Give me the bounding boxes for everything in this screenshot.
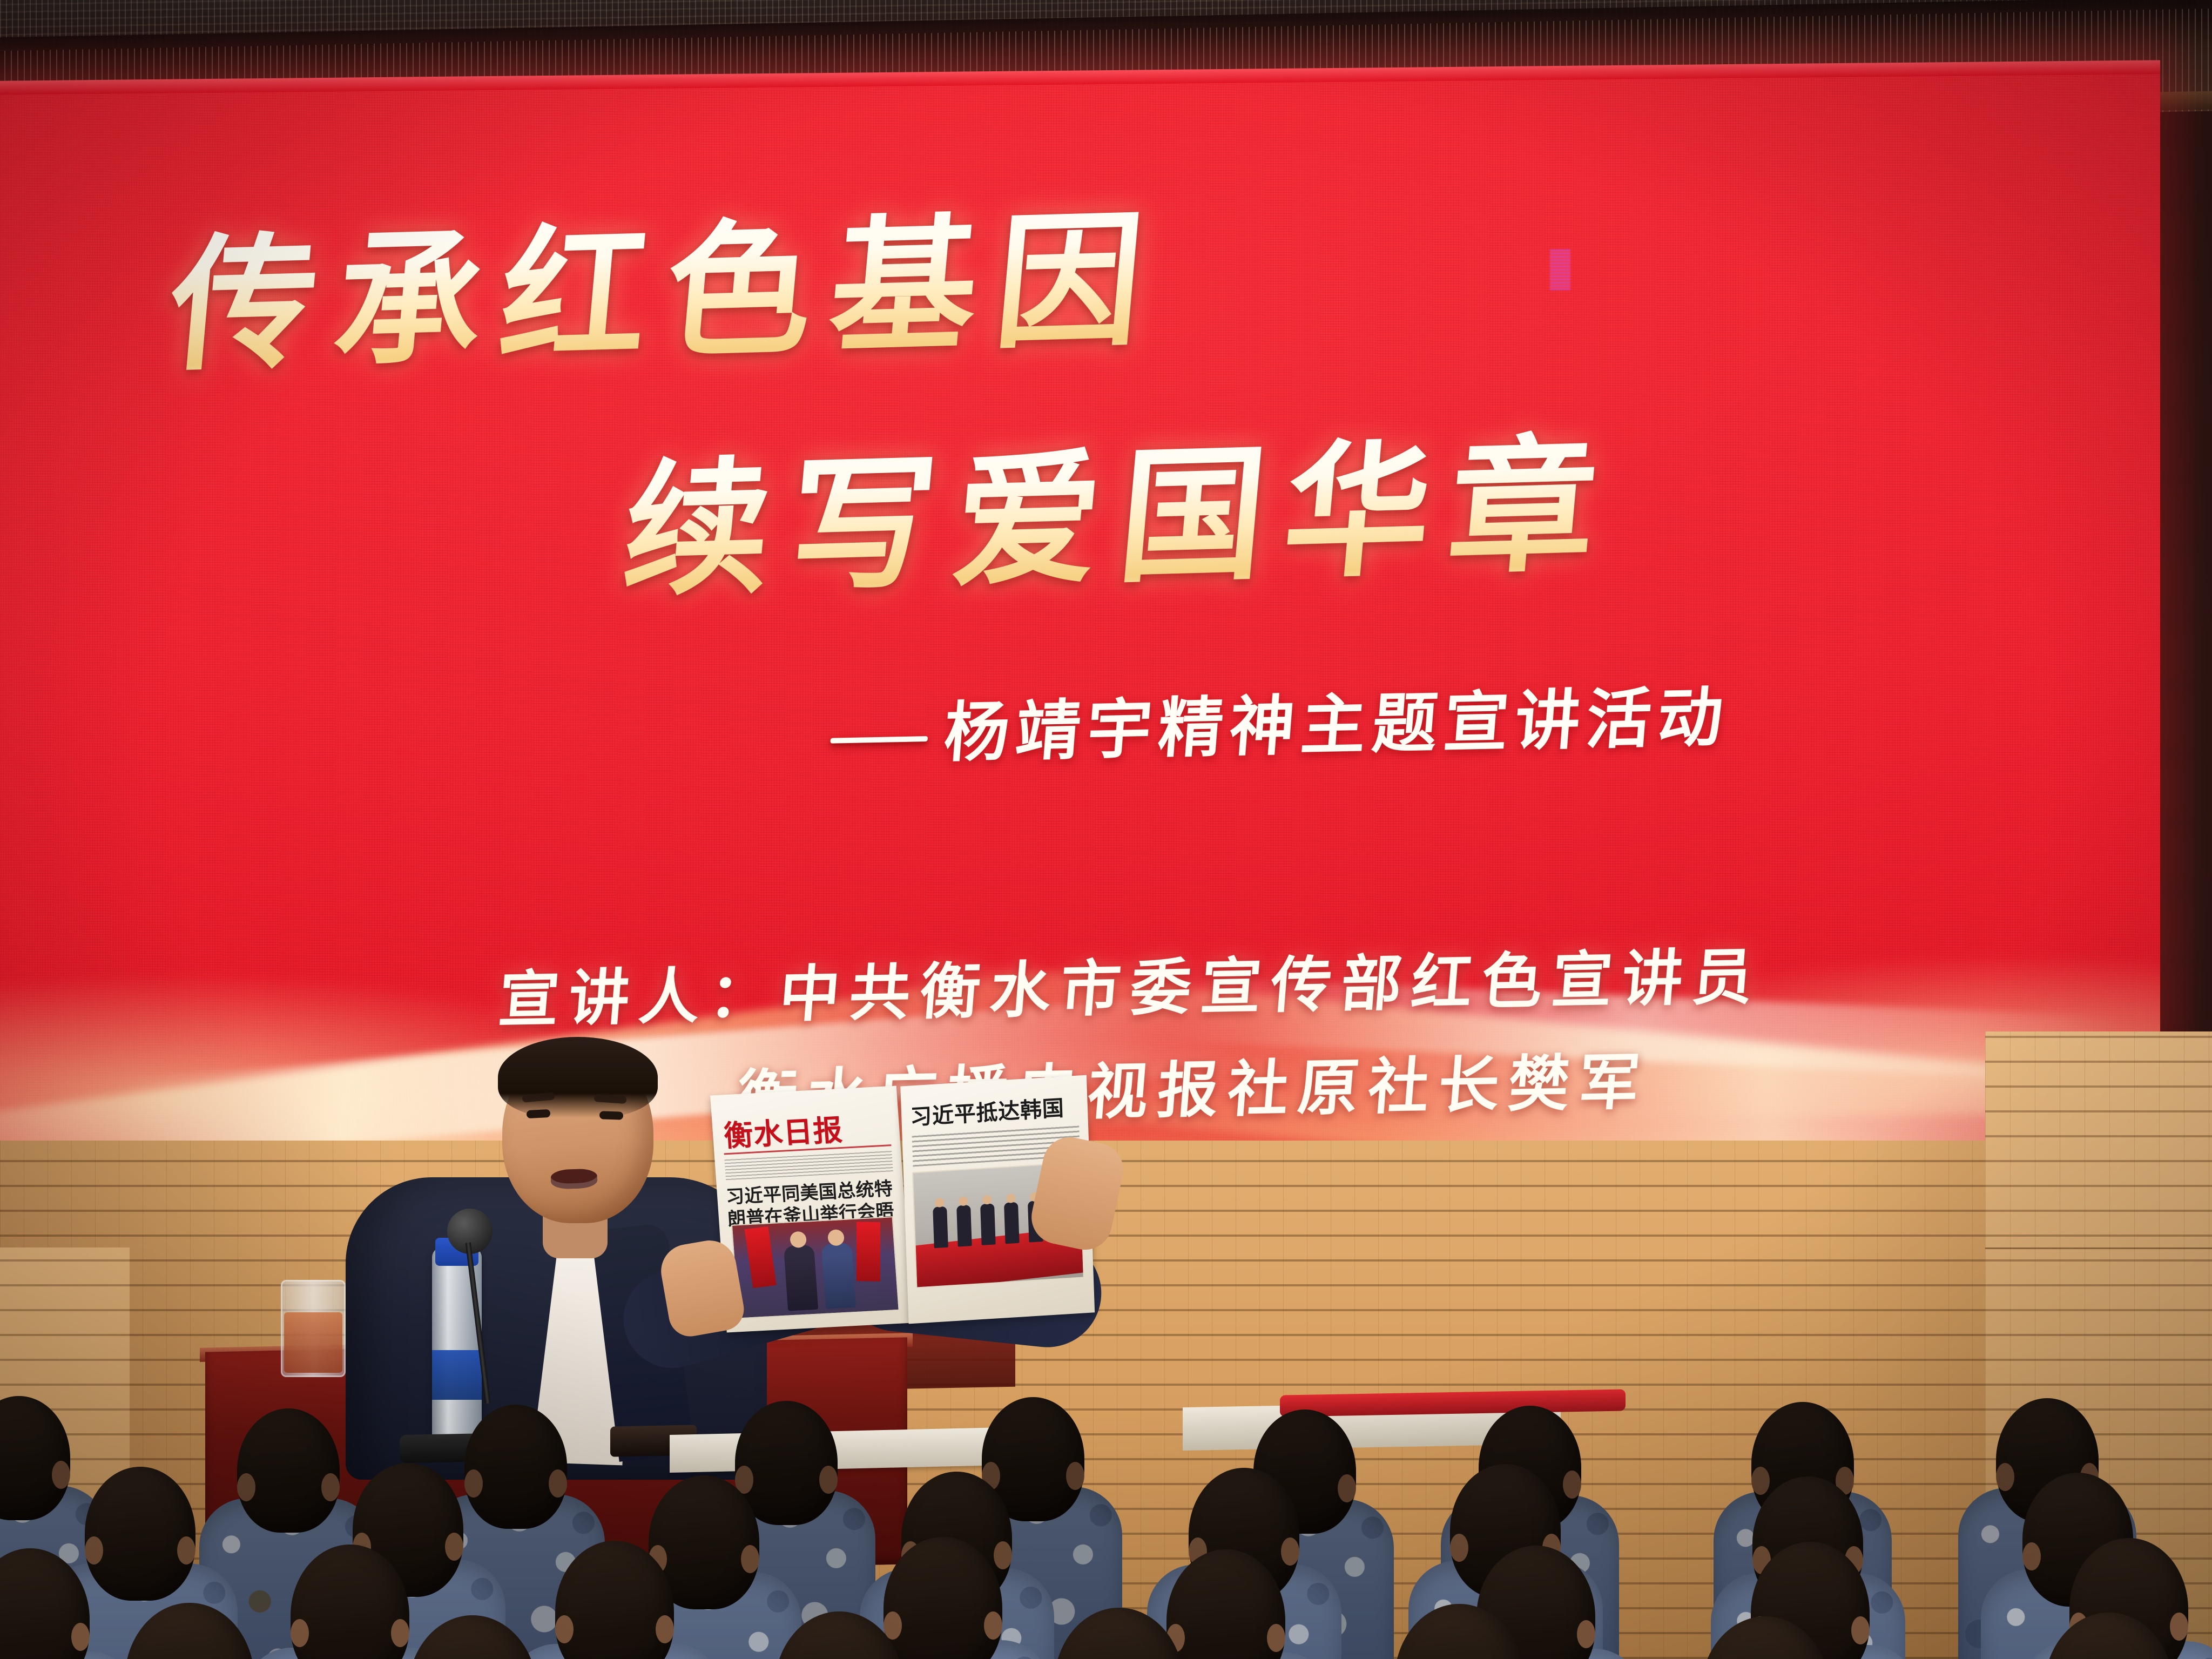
audience-member-ear bbox=[1851, 1616, 1870, 1644]
audience-member-ear bbox=[555, 1615, 574, 1643]
audience-member-ear bbox=[549, 1469, 567, 1498]
bottle-label bbox=[432, 1350, 482, 1400]
em-dash-icon bbox=[830, 736, 928, 744]
photo-figure-b bbox=[821, 1243, 856, 1309]
audience-member-ear bbox=[71, 1623, 90, 1651]
lecture-hall-scene: 传承红色基因 续写爱国华章 杨靖宇精神主题宣讲活动 宣讲人：中共衡水市委宣传部红… bbox=[0, 0, 2212, 1659]
banner-title-line-2: 续写爱国华章 bbox=[616, 386, 1625, 624]
audience-member-ear bbox=[1996, 1463, 2014, 1491]
photo-person bbox=[933, 1206, 948, 1249]
led-screen: 传承红色基因 续写爱国华章 杨靖宇精神主题宣讲活动 宣讲人：中共衡水市委宣传部红… bbox=[0, 60, 2160, 1226]
flag-icon-right bbox=[857, 1222, 880, 1282]
audience-member-ear bbox=[1281, 1537, 1299, 1566]
banner-title-line-1: 传承红色基因 bbox=[163, 161, 1171, 399]
newspaper-meta-bar bbox=[724, 1150, 893, 1180]
banner-credit-line-1: 宣讲人：中共衡水市委宣传部红色宣讲员 bbox=[496, 928, 1766, 1038]
audience-member-ear bbox=[391, 1619, 409, 1647]
audience-member-ear bbox=[177, 1536, 195, 1564]
audience-member-ear bbox=[1338, 1474, 1356, 1502]
speaker-eye-right bbox=[599, 1111, 623, 1120]
audience-member-ear bbox=[819, 1466, 838, 1494]
photo-person bbox=[1004, 1202, 1020, 1244]
audience-member-ear bbox=[1066, 1462, 1084, 1490]
audience-member-ear bbox=[741, 1545, 759, 1573]
photo-person bbox=[956, 1205, 972, 1247]
audience-member-head bbox=[85, 1467, 195, 1601]
flag-icon-left bbox=[745, 1226, 777, 1288]
audience-member-ear bbox=[1563, 1471, 1581, 1499]
audience-member-ear bbox=[984, 1611, 1002, 1640]
audience-member-ear bbox=[445, 1533, 463, 1561]
audience-member-head bbox=[237, 1408, 340, 1533]
wood-panel-seam bbox=[1985, 1247, 2212, 1249]
audience-member-ear bbox=[656, 1615, 674, 1643]
newspaper-photo-left bbox=[731, 1216, 900, 1319]
audience-member-ear bbox=[994, 1541, 1012, 1569]
audience-member-ear bbox=[321, 1473, 340, 1501]
audience-member-ear bbox=[2022, 1542, 2041, 1570]
stuck-led-pixel-block bbox=[1550, 249, 1570, 290]
audience-member-head bbox=[464, 1405, 567, 1529]
photo-figure-a bbox=[784, 1245, 818, 1311]
audience-member-ear bbox=[237, 1473, 255, 1501]
speaker-hair bbox=[498, 1037, 658, 1118]
audience-member-ear bbox=[85, 1536, 103, 1564]
newspaper-headline-right: 习近平抵达韩国 bbox=[909, 1090, 1079, 1131]
tea-liquid bbox=[284, 1312, 342, 1373]
speaker-eye-left bbox=[527, 1109, 551, 1118]
audience-member-ear bbox=[2170, 1613, 2188, 1641]
audience-member-ear bbox=[1450, 1534, 1468, 1562]
banner-text-group: 传承红色基因 续写爱国华章 杨靖宇精神主题宣讲活动 宣讲人：中共衡水市委宣传部红… bbox=[0, 60, 2160, 1226]
photo-person bbox=[980, 1203, 996, 1245]
banner-subtitle-text: 杨靖宇精神主题宣讲活动 bbox=[941, 679, 1732, 771]
audience-member-ear bbox=[52, 1461, 70, 1489]
audience-member-ear bbox=[1751, 1467, 1770, 1495]
audience-member-ear bbox=[464, 1469, 483, 1498]
audience-member-ear bbox=[1577, 1620, 1595, 1648]
audience-member-ear bbox=[1267, 1624, 1285, 1652]
audience-member-ear bbox=[291, 1619, 309, 1647]
speaker-mouth bbox=[550, 1169, 597, 1190]
banner-subtitle-row: 杨靖宇精神主题宣讲活动 bbox=[828, 664, 1734, 776]
